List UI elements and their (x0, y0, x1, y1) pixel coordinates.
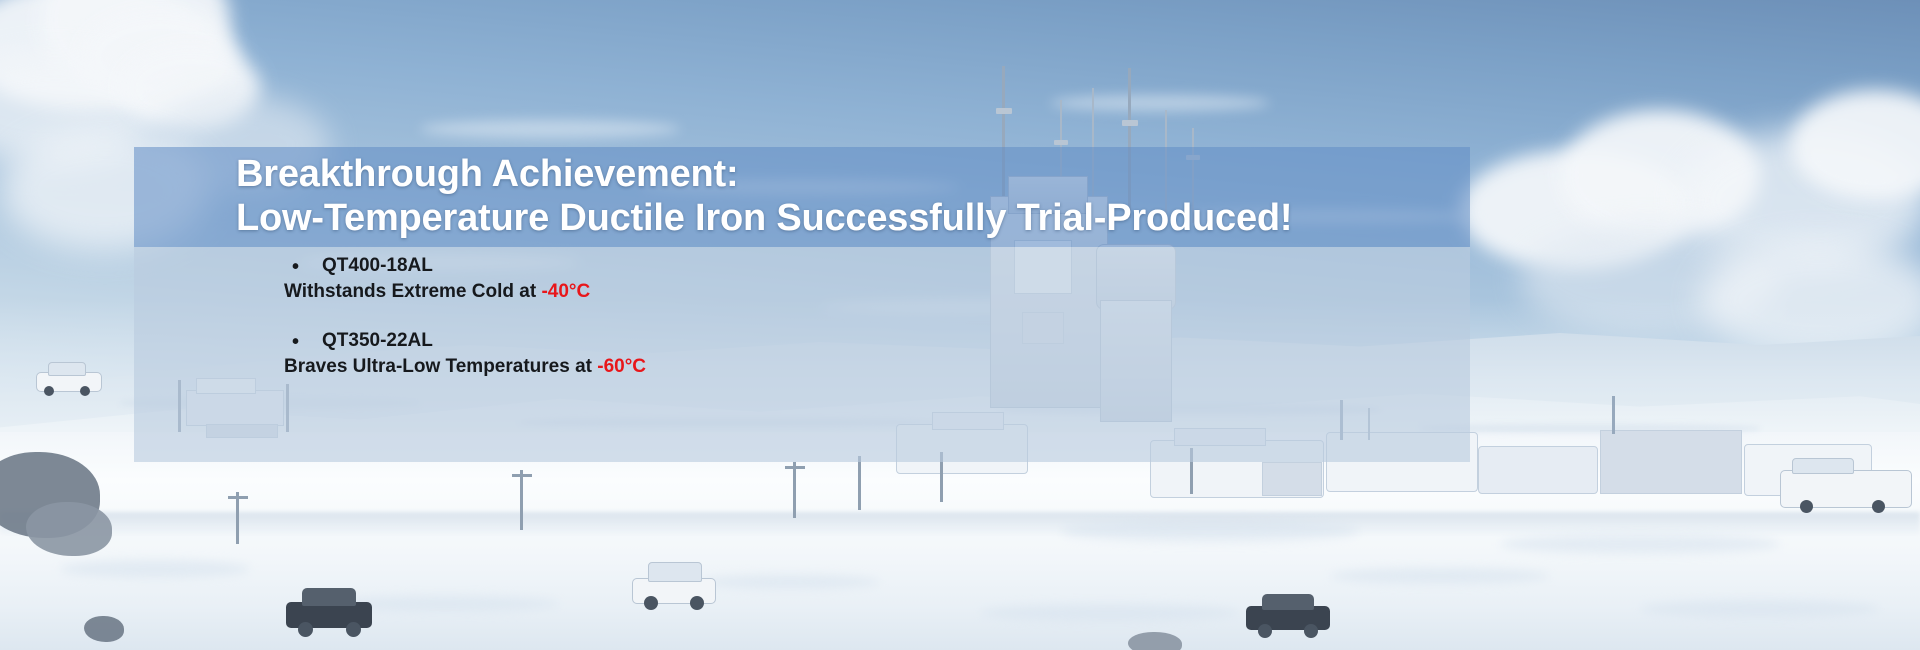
product-grade-line: • QT350-22AL (284, 330, 1434, 352)
product-grade-line: • QT400-18AL (284, 255, 1434, 277)
product-bullet-list: • QT400-18AL Withstands Extreme Cold at … (284, 255, 1434, 379)
headline-line-1: Breakthrough Achievement: (236, 155, 1466, 193)
product-temperature-value: -60°C (597, 356, 646, 377)
product-item-qt350: • QT350-22AL Braves Ultra-Low Temperatur… (284, 330, 1434, 379)
text-overlay-panel: Breakthrough Achievement: Low-Temperatur… (134, 147, 1470, 462)
product-description-text: Withstands Extreme Cold at (284, 281, 541, 302)
bullet-marker-icon: • (292, 256, 299, 278)
product-grade-label: QT350-22AL (322, 330, 433, 351)
product-description-line: Withstands Extreme Cold at -40°C (284, 280, 1434, 304)
product-item-qt400: • QT400-18AL Withstands Extreme Cold at … (284, 255, 1434, 304)
product-description-line: Braves Ultra-Low Temperatures at -60°C (284, 355, 1434, 379)
product-description-text: Braves Ultra-Low Temperatures at (284, 356, 597, 377)
product-temperature-value: -40°C (541, 281, 590, 302)
banner-headline: Breakthrough Achievement: Low-Temperatur… (236, 155, 1466, 237)
product-grade-label: QT400-18AL (322, 255, 433, 276)
promotional-banner: Breakthrough Achievement: Low-Temperatur… (0, 0, 1920, 650)
bullet-marker-icon: • (292, 331, 299, 353)
snow-road (0, 512, 1920, 534)
headline-line-2: Low-Temperature Ductile Iron Successfull… (236, 199, 1466, 237)
